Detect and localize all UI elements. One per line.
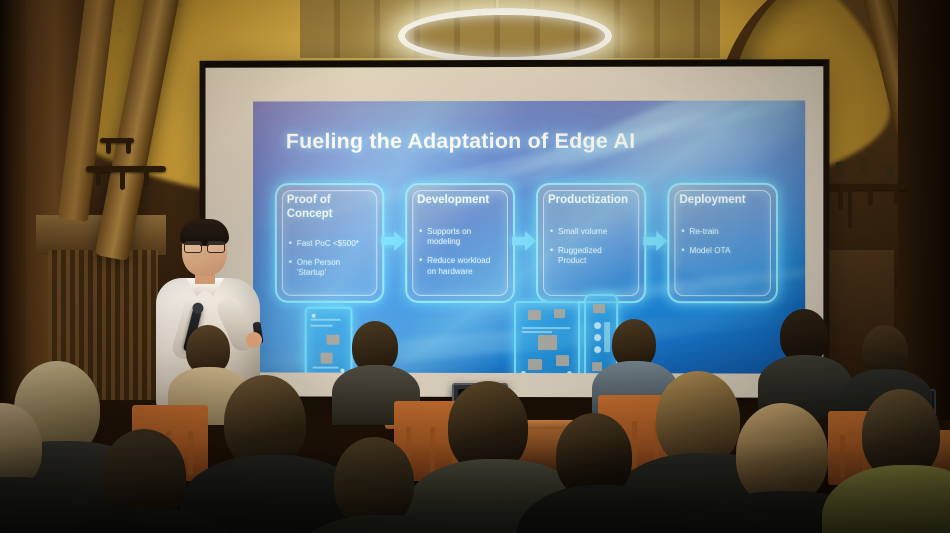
slide-title: Fueling the Adaptation of Edge AI xyxy=(286,129,636,154)
flow-box-heading: Deployment xyxy=(679,193,770,207)
flow-arrow-icon xyxy=(512,231,536,251)
flow-bullet: Small volume xyxy=(550,227,638,237)
flow-bullet: Supports onmodeling xyxy=(419,227,507,247)
ring-pendant-light-icon xyxy=(398,8,612,64)
flow-box-heading: Proof ofConcept xyxy=(287,193,376,221)
flow-arrow-icon xyxy=(381,231,405,251)
flow-arrow-icon xyxy=(643,231,667,251)
eyeglasses-icon xyxy=(184,241,225,251)
flow-bullet: Re-train xyxy=(681,227,770,237)
flow-box-heading: Development xyxy=(417,193,507,207)
presentation-photo: Fueling the Adaptation of Edge AI Proof … xyxy=(0,0,950,533)
flow-bullet: Fast PoC <$500* xyxy=(289,239,377,249)
flow-box-heading: Productization xyxy=(548,193,638,207)
coat-hooks-left xyxy=(86,140,182,210)
audience xyxy=(0,253,950,533)
